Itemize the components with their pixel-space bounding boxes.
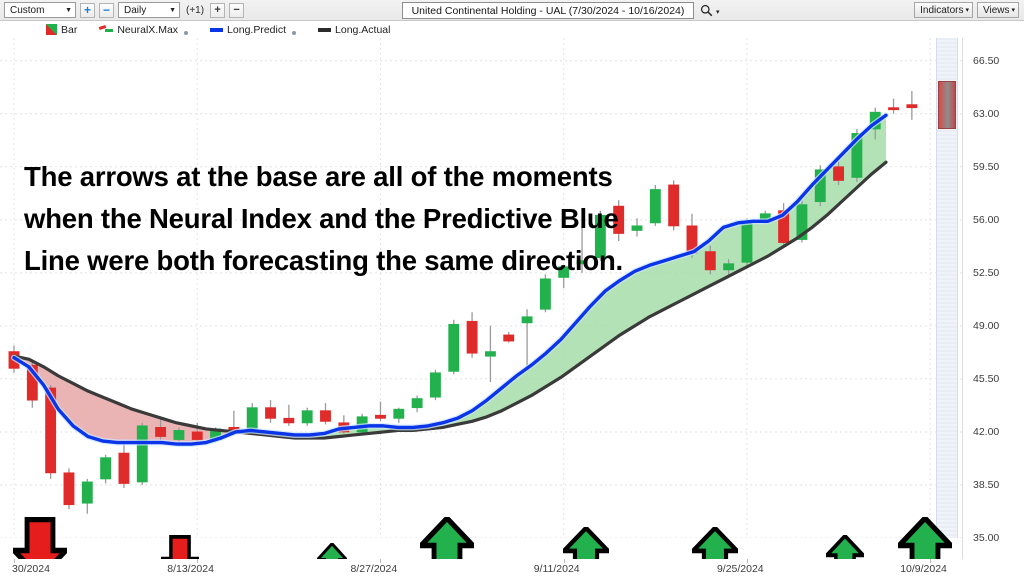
legend-item-long-actual[interactable]: Long.Actual xyxy=(318,24,390,36)
legend-dot-icon xyxy=(184,31,188,35)
y-axis-tick-label: 59.50 xyxy=(973,161,999,173)
price-axis[interactable]: 66.5063.0059.5056.0052.5049.0045.5042.00… xyxy=(962,38,1024,583)
y-axis-tick-label: 35.00 xyxy=(973,532,999,544)
chart-area[interactable]: The arrows at the base are all of the mo… xyxy=(0,38,1024,583)
blue-line-swatch-icon xyxy=(210,28,223,32)
black-line-swatch-icon xyxy=(318,28,331,32)
search-caret-icon[interactable]: ▾ xyxy=(716,8,720,16)
y-axis-tick-label: 45.50 xyxy=(973,373,999,385)
symbol-title-field[interactable]: United Continental Holding - UAL (7/30/2… xyxy=(402,2,694,19)
offset-label: (+1) xyxy=(186,5,204,16)
annotation-line-2: when the Neural Index and the Predictive… xyxy=(24,198,724,240)
legend-label: Long.Predict xyxy=(227,24,286,36)
legend-item-bar[interactable]: Bar xyxy=(46,24,77,36)
period-value: Daily xyxy=(124,5,146,16)
y-axis-tick-label: 52.50 xyxy=(973,267,999,279)
plot-canvas xyxy=(0,38,962,538)
x-axis-tick-mark xyxy=(930,559,931,563)
x-axis-tick-label: 9/25/2024 xyxy=(717,563,764,575)
chart-type-dropdown[interactable]: Custom ▼ xyxy=(4,2,76,18)
legend-item-neuralx-max[interactable]: NeuralX.Max xyxy=(99,24,188,36)
x-axis-tick-label: 8/27/2024 xyxy=(350,563,397,575)
neural-swatch-icon xyxy=(99,25,113,34)
toolbar-right-buttons: Indicators ▾ Views ▾ xyxy=(914,2,1019,18)
zoom-in-button[interactable]: + xyxy=(80,3,95,18)
y-axis-tick-label: 66.50 xyxy=(973,55,999,67)
price-plot[interactable] xyxy=(0,38,962,538)
bar-swatch-icon xyxy=(46,24,57,35)
x-axis-tick-mark xyxy=(380,559,381,563)
x-axis-tick-mark xyxy=(564,559,565,563)
chevron-down-icon: ▼ xyxy=(65,7,72,14)
legend-label: NeuralX.Max xyxy=(117,24,178,36)
legend-dot-icon xyxy=(292,31,296,35)
date-axis[interactable]: 30/20248/13/20248/27/20249/11/20249/25/2… xyxy=(0,559,1024,583)
y-axis-tick-label: 42.00 xyxy=(973,426,999,438)
symbol-title-text: United Continental Holding - UAL (7/30/2… xyxy=(412,5,685,17)
annotation-line-3: Line were both forecasting the same dire… xyxy=(24,240,724,282)
x-axis-tick-label: 10/9/2024 xyxy=(900,563,947,575)
indicators-label: Indicators xyxy=(920,5,963,16)
x-axis-tick-label: 9/11/2024 xyxy=(534,563,580,575)
chart-legend: Bar NeuralX.Max Long.Predict Long.Actual xyxy=(0,21,1024,38)
chart-type-value: Custom xyxy=(10,5,44,16)
legend-item-long-predict[interactable]: Long.Predict xyxy=(210,24,296,36)
chevron-down-icon: ▾ xyxy=(1011,6,1015,14)
x-axis-tick-label: 30/2024 xyxy=(12,563,50,575)
chevron-down-icon: ▼ xyxy=(169,7,176,14)
y-axis-tick-label: 63.00 xyxy=(973,108,999,120)
x-axis-tick-label: 8/13/2024 xyxy=(167,563,214,575)
chart-application: Custom ▼ + − Daily ▼ (+1) + − United Con… xyxy=(0,0,1024,583)
legend-label: Bar xyxy=(61,24,77,36)
chevron-down-icon: ▾ xyxy=(965,6,969,14)
legend-label: Long.Actual xyxy=(335,24,390,36)
y-axis-tick-label: 56.00 xyxy=(973,214,999,226)
y-axis-tick-label: 49.00 xyxy=(973,320,999,332)
search-icon[interactable] xyxy=(700,4,713,17)
annotation-text: The arrows at the base are all of the mo… xyxy=(24,156,724,282)
indicators-button[interactable]: Indicators ▾ xyxy=(914,2,973,18)
x-axis-tick-mark xyxy=(197,559,198,563)
views-label: Views xyxy=(983,5,1010,16)
x-axis-tick-mark xyxy=(747,559,748,563)
annotation-line-1: The arrows at the base are all of the mo… xyxy=(24,156,724,198)
current-price-marker xyxy=(938,81,956,129)
zoom-out-button[interactable]: − xyxy=(99,3,114,18)
y-axis-tick-label: 38.50 xyxy=(973,479,999,491)
offset-decrease-button[interactable]: − xyxy=(229,3,244,18)
x-axis-tick-mark xyxy=(14,559,15,563)
views-button[interactable]: Views ▾ xyxy=(977,2,1019,18)
period-dropdown[interactable]: Daily ▼ xyxy=(118,2,180,18)
offset-increase-button[interactable]: + xyxy=(210,3,225,18)
